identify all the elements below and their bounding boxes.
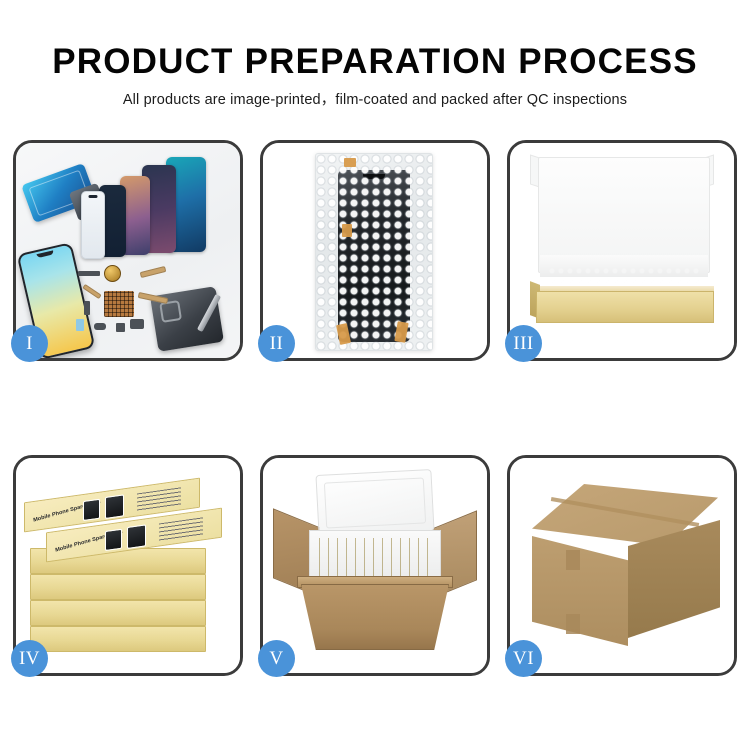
- page-subtitle: All products are image-printed，film-coat…: [0, 91, 750, 109]
- logic-board-graphic: [104, 291, 134, 317]
- component-camera-graphic: [130, 319, 144, 329]
- step-panel-4: Mobile Phone Spare Parts Mobile Phone Sp…: [13, 455, 243, 676]
- box-screen-thumb-1a: [83, 499, 100, 521]
- step-badge-2: II: [258, 325, 295, 362]
- component-screw-graphic: [116, 323, 125, 332]
- step-badge-1: I: [11, 325, 48, 362]
- product-preparation-process-infographic: PRODUCT PREPARATION PROCESS All products…: [0, 0, 750, 750]
- flex-cable-c-graphic: [82, 284, 101, 299]
- bubble-wrap-pouch-graphic: [315, 153, 433, 351]
- foam-cooler-lid-graphic: [315, 469, 434, 537]
- step-badge-3: III: [505, 325, 542, 362]
- step-image-4: Mobile Phone Spare Parts Mobile Phone Sp…: [16, 458, 240, 673]
- step-image-2: [263, 143, 487, 358]
- step-panel-6: VI: [507, 455, 737, 676]
- stacked-box-4: [30, 574, 206, 600]
- step-panel-2: II: [260, 140, 490, 361]
- step-panel-5: V: [260, 455, 490, 676]
- step-image-1: [16, 143, 240, 358]
- header: PRODUCT PREPARATION PROCESS All products…: [0, 42, 750, 109]
- carton-tape-upper-graphic: [566, 550, 580, 570]
- box-screen-thumb-2a: [105, 529, 122, 551]
- carton-tape-lower-graphic: [566, 614, 580, 634]
- step-image-5: [263, 458, 487, 673]
- stacked-box-5: [30, 600, 206, 626]
- notch-graphic: [89, 195, 98, 198]
- component-glass-chip-graphic: [76, 319, 84, 331]
- step-image-3: [510, 143, 734, 358]
- step-image-6: [510, 458, 734, 673]
- carton-body-graphic: [301, 584, 449, 650]
- page-title: PRODUCT PREPARATION PROCESS: [0, 42, 750, 82]
- component-bar-graphic: [78, 271, 100, 276]
- box-stack-graphic: Mobile Phone Spare Parts Mobile Phone Sp…: [24, 476, 230, 662]
- box-screen-thumb-2b: [127, 524, 146, 549]
- tape-top-graphic: [344, 158, 356, 167]
- bubble-texture-graphic: [316, 154, 432, 350]
- component-connector-graphic: [94, 323, 106, 330]
- box-screen-thumb-1b: [105, 494, 124, 519]
- yellow-boxes-inside-graphic: [319, 538, 431, 578]
- speaker-module-graphic: [104, 265, 121, 282]
- step-badge-5: V: [258, 640, 295, 677]
- step-panel-1: I: [13, 140, 243, 361]
- step-panel-3: III: [507, 140, 737, 361]
- tape-mid-graphic: [342, 224, 352, 237]
- step-badge-4: IV: [11, 640, 48, 677]
- front-glass-panel-graphic: [81, 191, 105, 259]
- box-front-panel-graphic: [536, 291, 714, 323]
- flex-cable-a-graphic: [140, 266, 167, 278]
- step-badge-6: VI: [505, 640, 542, 677]
- stacked-box-6: [30, 626, 206, 652]
- process-steps-grid: I II: [13, 140, 737, 676]
- sealed-carton-left-face-graphic: [532, 536, 628, 646]
- component-chip-graphic: [84, 301, 90, 315]
